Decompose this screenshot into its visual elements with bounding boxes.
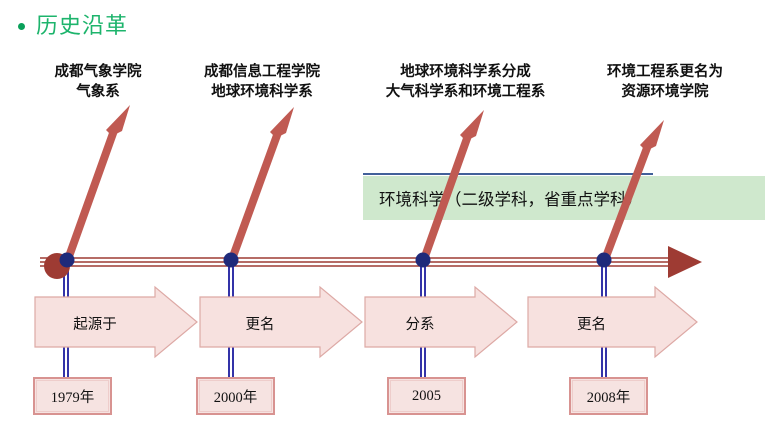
caption-4-line2: 资源环境学院 bbox=[580, 83, 750, 103]
origin-circle-icon bbox=[44, 253, 70, 279]
year-box-inner: 2008年 bbox=[572, 380, 645, 412]
caption-2-line2: 地球环境科学系 bbox=[188, 83, 336, 103]
year-box-inner: 1979年 bbox=[36, 380, 109, 412]
chevron-label-1: 起源于 bbox=[35, 313, 155, 334]
year-box-label-1: 1979年 bbox=[51, 386, 95, 407]
highlight-box-text: 环境科学（二级学科，省重点学科） bbox=[379, 186, 643, 210]
year-box-1[interactable]: 1979年 bbox=[33, 377, 112, 415]
year-box-inner: 2000年 bbox=[199, 380, 272, 412]
year-box-4[interactable]: 2008年 bbox=[569, 377, 648, 415]
year-box-2[interactable]: 2000年 bbox=[196, 377, 275, 415]
year-box-inner: 2005 bbox=[390, 380, 463, 412]
slide-canvas: 历史沿革 环境科学（二级学科，省重点学科） bbox=[0, 0, 765, 438]
year-box-3[interactable]: 2005 bbox=[387, 377, 466, 415]
chevron-label-2: 更名 bbox=[200, 313, 320, 334]
caption-3-line1: 地球环境科学系分成 bbox=[358, 63, 573, 83]
caption-2: 成都信息工程学院 地球环境科学系 bbox=[188, 63, 336, 102]
caption-3-line2: 大气科学系和环境工程系 bbox=[358, 83, 573, 103]
highlight-box-topline bbox=[363, 173, 653, 175]
arrowhead-icon bbox=[668, 246, 702, 278]
caption-4: 环境工程系更名为 资源环境学院 bbox=[580, 63, 750, 102]
caption-1-line2: 气象系 bbox=[28, 83, 168, 103]
year-box-label-2: 2000年 bbox=[214, 386, 258, 407]
caption-4-line1: 环境工程系更名为 bbox=[580, 63, 750, 83]
caption-3: 地球环境科学系分成 大气科学系和环境工程系 bbox=[358, 63, 573, 102]
caption-2-line1: 成都信息工程学院 bbox=[188, 63, 336, 83]
caption-1-line1: 成都气象学院 bbox=[28, 63, 168, 83]
year-box-label-3: 2005 bbox=[412, 388, 441, 405]
year-box-label-4: 2008年 bbox=[587, 386, 631, 407]
chevron-label-3: 分系 bbox=[365, 313, 475, 334]
caption-1: 成都气象学院 气象系 bbox=[28, 63, 168, 102]
chevron-label-4: 更名 bbox=[528, 313, 655, 334]
